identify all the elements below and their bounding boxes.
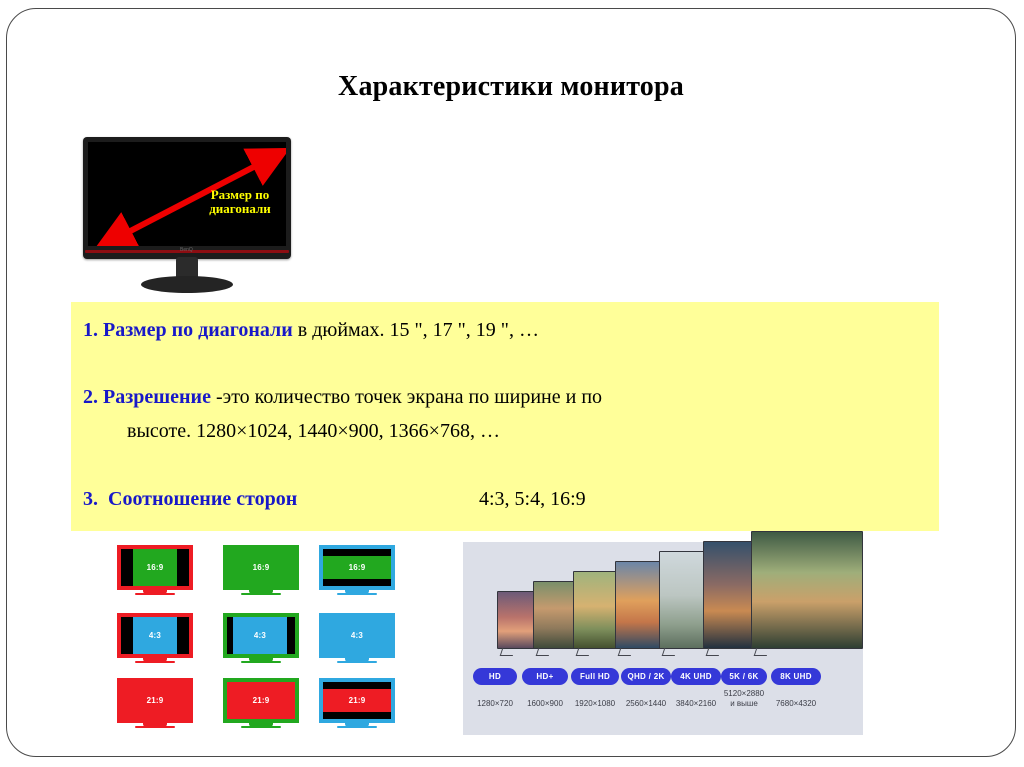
tv-aspect-cell: 4:3 (223, 613, 299, 665)
tv-bezel: 16:9 (223, 545, 299, 590)
diagonal-caption-line1: Размер по (192, 188, 286, 202)
resolution-tv-leg (500, 648, 516, 656)
tv-content-area: 4:3 (233, 617, 287, 654)
resolution-pixels-value: 5120×2880 (715, 689, 773, 699)
resolution-pixels: 7680×4320 (765, 699, 827, 709)
tv-content-area: 16:9 (227, 549, 295, 586)
tv-aspect-cell: 4:3 (319, 613, 395, 665)
item-2-rest-line2: высоте. 1280×1024, 1440×900, 1366×768, … (127, 420, 500, 443)
tv-stand-foot (337, 593, 377, 595)
tv-screen: 21:9 (323, 682, 391, 719)
resolution-tv-leg (662, 648, 678, 656)
item-2-rest: -это количество точек экрана по ширине и… (211, 386, 602, 408)
tv-screen: 21:9 (227, 682, 295, 719)
tv-aspect-label: 16:9 (349, 563, 366, 572)
tv-screen: 4:3 (323, 617, 391, 654)
tv-content-area: 16:9 (323, 556, 391, 579)
resolution-badge: 5K / 6K (721, 668, 767, 685)
tv-screen: 21:9 (121, 682, 189, 719)
resolution-badge: Full HD (571, 668, 619, 685)
tv-bezel: 4:3 (319, 613, 395, 658)
tv-bezel: 4:3 (117, 613, 193, 658)
tv-bezel: 4:3 (223, 613, 299, 658)
tv-aspect-label: 21:9 (147, 696, 164, 705)
tv-content-area: 4:3 (133, 617, 177, 654)
tv-bezel: 16:9 (319, 545, 395, 590)
resolution-tv-leg (536, 648, 552, 656)
tv-content-area: 16:9 (133, 549, 177, 586)
diagonal-caption: Размер по диагонали (192, 188, 286, 216)
item-3-number: 3. (83, 488, 98, 510)
tv-screen: 4:3 (121, 617, 189, 654)
item-1-term: Размер по диагонали (103, 319, 293, 341)
tv-aspect-cell: 21:9 (319, 678, 395, 730)
page-title: Характеристики монитора (7, 71, 1015, 103)
tv-aspect-label: 4:3 (351, 631, 363, 640)
tv-aspect-cell: 16:9 (117, 545, 193, 597)
tv-aspect-label: 21:9 (349, 696, 366, 705)
resolution-badge: HD (473, 668, 517, 685)
resolution-badge: 4K UHD (671, 668, 721, 685)
tv-aspect-label: 4:3 (254, 631, 266, 640)
resolution-badge: 8K UHD (771, 668, 821, 685)
tv-bezel: 21:9 (117, 678, 193, 723)
aspect-ratio-illustration: 16:916:916:94:34:34:321:921:921:9 (117, 545, 395, 737)
tv-stand-foot (241, 593, 281, 595)
tv-bezel: 16:9 (117, 545, 193, 590)
resolution-badge: QHD / 2K (621, 668, 671, 685)
resolution-ladder-illustration: HD1280×720HD+1600×900Full HD1920×1080QHD… (463, 542, 863, 735)
item-3-values: 4:3, 5:4, 16:9 (479, 488, 586, 511)
tv-aspect-cell: 21:9 (117, 678, 193, 730)
tv-stand-foot (337, 661, 377, 663)
characteristic-item-2: 2. Разрешение -это количество точек экра… (83, 386, 602, 409)
resolution-pixels: 1280×720 (467, 699, 523, 709)
monitor-body: Размер по диагонали BenQ (83, 137, 291, 259)
characteristic-item-3: 3. Соотношение сторон (83, 488, 297, 511)
tv-screen: 16:9 (121, 549, 189, 586)
tv-content-area: 21:9 (227, 682, 295, 719)
item-1-number: 1. (83, 319, 98, 341)
monitor-brand-label: BenQ (180, 247, 193, 253)
monitor-screen: Размер по диагонали (88, 142, 286, 246)
tv-aspect-label: 21:9 (253, 696, 270, 705)
tv-stand-foot (337, 726, 377, 728)
tv-aspect-label: 16:9 (147, 563, 164, 572)
item-2-term: Разрешение (103, 386, 211, 408)
monitor-stand-base (141, 276, 233, 293)
resolution-tv-leg (754, 648, 770, 656)
resolution-pixels-value: 7680×4320 (765, 699, 827, 709)
diagonal-caption-line2: диагонали (192, 202, 286, 216)
item-2-number: 2. (83, 386, 98, 408)
tv-aspect-cell: 21:9 (223, 678, 299, 730)
tv-stand-foot (135, 661, 175, 663)
tv-screen: 16:9 (227, 549, 295, 586)
tv-aspect-label: 16:9 (253, 563, 270, 572)
resolution-tv-leg (576, 648, 592, 656)
tv-stand-foot (135, 726, 175, 728)
characteristics-box: 1. Размер по диагонали в дюймах. 15 ", 1… (71, 302, 939, 531)
tv-stand-foot (241, 661, 281, 663)
tv-aspect-label: 4:3 (149, 631, 161, 640)
resolution-tv-leg (618, 648, 634, 656)
resolution-tv-leg (706, 648, 722, 656)
tv-aspect-cell: 16:9 (319, 545, 395, 597)
tv-content-area: 4:3 (323, 617, 391, 654)
tv-screen: 4:3 (227, 617, 295, 654)
characteristic-item-1: 1. Размер по диагонали в дюймах. 15 ", 1… (83, 319, 539, 342)
tv-bezel: 21:9 (223, 678, 299, 723)
tv-bezel: 21:9 (319, 678, 395, 723)
resolution-pixels-value: 1280×720 (467, 699, 523, 709)
item-1-rest: в дюймах. 15 ", 17 ", 19 ", … (293, 319, 539, 341)
resolution-tv (751, 531, 863, 649)
resolution-badge: HD+ (522, 668, 568, 685)
tv-content-area: 21:9 (121, 682, 189, 719)
tv-stand-foot (241, 726, 281, 728)
tv-screen: 16:9 (323, 549, 391, 586)
monitor-illustration: Размер по диагонали BenQ (83, 137, 297, 287)
tv-aspect-cell: 4:3 (117, 613, 193, 665)
item-3-term: Соотношение сторон (108, 488, 297, 510)
tv-aspect-cell: 16:9 (223, 545, 299, 597)
slide-frame: Характеристики монитора Разме (6, 8, 1016, 757)
tv-content-area: 21:9 (323, 689, 391, 712)
tv-stand-foot (135, 593, 175, 595)
